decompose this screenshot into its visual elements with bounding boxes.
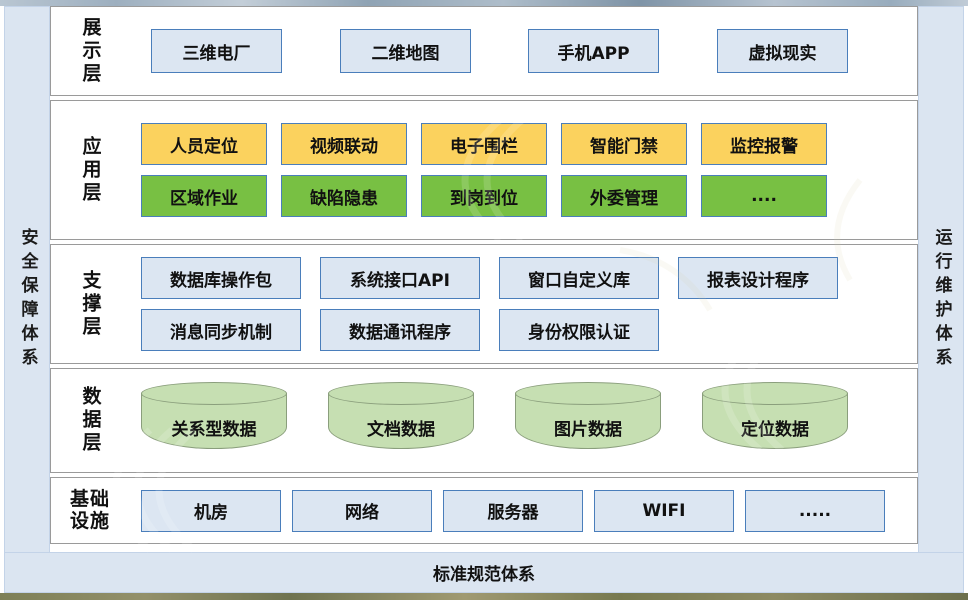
node-mobile-app[interactable]: 手机APP bbox=[528, 29, 659, 73]
layer-body-data: 关系型数据 文档数据 图片数据 bbox=[129, 369, 917, 472]
layer-body-support: 数据库操作包 系统接口API 窗口自定义库 报表设计程序 消息同步机制 数据通讯… bbox=[129, 245, 917, 363]
node-application-more[interactable]: .... bbox=[701, 175, 827, 217]
node-on-post-on-duty[interactable]: 到岗到位 bbox=[421, 175, 547, 217]
cylinder-label: 文档数据 bbox=[367, 415, 435, 440]
node-message-sync-mechanism[interactable]: 消息同步机制 bbox=[141, 309, 301, 351]
support-row-2: 消息同步机制 数据通讯程序 身份权限认证 bbox=[129, 309, 907, 351]
node-database-operation-package[interactable]: 数据库操作包 bbox=[141, 257, 301, 299]
left-rail-security-system: 安全保障体系 bbox=[4, 6, 50, 593]
layer-body-infrastructure: 机房 网络 服务器 WIFI ..... bbox=[129, 478, 917, 543]
node-monitoring-alarm[interactable]: 监控报警 bbox=[701, 123, 827, 165]
node-system-interface-api[interactable]: 系统接口API bbox=[320, 257, 480, 299]
node-machine-room[interactable]: 机房 bbox=[141, 490, 281, 532]
layer-label-infrastructure-line1: 基础 bbox=[70, 489, 110, 510]
cylinder-positioning-data[interactable]: 定位数据 bbox=[702, 382, 848, 460]
node-smart-access-control[interactable]: 智能门禁 bbox=[561, 123, 687, 165]
cylinder-top-ellipse bbox=[515, 382, 661, 405]
node-3d-plant[interactable]: 三维电厂 bbox=[151, 29, 282, 73]
cylinder-document-data[interactable]: 文档数据 bbox=[328, 382, 474, 460]
layer-body-presentation: 三维电厂 二维地图 手机APP 虚拟现实 bbox=[129, 7, 917, 95]
layer-label-presentation: 展示层 bbox=[51, 7, 129, 95]
footer-standards-system: 标准规范体系 bbox=[4, 552, 964, 593]
node-infrastructure-more[interactable]: ..... bbox=[745, 490, 885, 532]
layer-stack: 展示层 三维电厂 二维地图 手机APP 虚拟现实 应用层 bbox=[50, 6, 918, 593]
cylinder-label: 定位数据 bbox=[741, 415, 809, 440]
node-report-design-program[interactable]: 报表设计程序 bbox=[678, 257, 838, 299]
layer-presentation: 展示层 三维电厂 二维地图 手机APP 虚拟现实 bbox=[50, 6, 918, 96]
node-defect-hazard[interactable]: 缺陷隐患 bbox=[281, 175, 407, 217]
node-data-communication-program[interactable]: 数据通讯程序 bbox=[320, 309, 480, 351]
right-rail-label: 运行维护体系 bbox=[933, 228, 950, 372]
cylinder-image-data[interactable]: 图片数据 bbox=[515, 382, 661, 460]
cylinder-top-ellipse bbox=[328, 382, 474, 405]
bottom-photo-band bbox=[0, 593, 968, 600]
layer-label-infrastructure: 基础 设施 bbox=[51, 478, 129, 543]
layer-infrastructure: 基础 设施 机房 网络 服务器 WIFI ..... bbox=[50, 477, 918, 544]
cylinder-label: 图片数据 bbox=[554, 415, 622, 440]
cylinder-label: 关系型数据 bbox=[172, 415, 257, 440]
application-row-yellow: 人员定位 视频联动 电子围栏 智能门禁 监控报警 bbox=[129, 123, 907, 165]
node-identity-permission-auth[interactable]: 身份权限认证 bbox=[499, 309, 659, 351]
node-server[interactable]: 服务器 bbox=[443, 490, 583, 532]
architecture-diagram: 安全保障体系 运行维护体系 展示层 三维电厂 二维地图 手机APP 虚拟现实 bbox=[0, 0, 968, 600]
layer-support: 支撑层 数据库操作包 系统接口API 窗口自定义库 报表设计程序 消息同步机制 … bbox=[50, 244, 918, 364]
node-video-linkage[interactable]: 视频联动 bbox=[281, 123, 407, 165]
cylinder-top-ellipse bbox=[141, 382, 287, 405]
cylinder-top-ellipse bbox=[702, 382, 848, 405]
node-outsourcing-management[interactable]: 外委管理 bbox=[561, 175, 687, 217]
node-electronic-fence[interactable]: 电子围栏 bbox=[421, 123, 547, 165]
cylinder-relational-data[interactable]: 关系型数据 bbox=[141, 382, 287, 460]
layer-data: 数据层 关系型数据 文档数据 bbox=[50, 368, 918, 473]
node-wifi[interactable]: WIFI bbox=[594, 490, 734, 532]
support-row-1: 数据库操作包 系统接口API 窗口自定义库 报表设计程序 bbox=[129, 257, 907, 299]
layer-label-infrastructure-line2: 设施 bbox=[70, 511, 110, 532]
node-network[interactable]: 网络 bbox=[292, 490, 432, 532]
layer-label-data: 数据层 bbox=[51, 369, 129, 472]
right-rail-operations-system: 运行维护体系 bbox=[918, 6, 964, 593]
presentation-row: 三维电厂 二维地图 手机APP 虚拟现实 bbox=[129, 29, 907, 73]
left-rail-label: 安全保障体系 bbox=[19, 228, 36, 372]
node-zone-operations[interactable]: 区域作业 bbox=[141, 175, 267, 217]
node-2d-map[interactable]: 二维地图 bbox=[340, 29, 471, 73]
layer-label-support: 支撑层 bbox=[51, 245, 129, 363]
layer-application: 应用层 人员定位 视频联动 电子围栏 智能门禁 监控报警 区域作业 bbox=[50, 100, 918, 240]
node-window-custom-library[interactable]: 窗口自定义库 bbox=[499, 257, 659, 299]
infrastructure-row: 机房 网络 服务器 WIFI ..... bbox=[129, 490, 907, 532]
layer-label-application: 应用层 bbox=[51, 101, 129, 239]
data-row: 关系型数据 文档数据 图片数据 bbox=[129, 382, 907, 460]
node-virtual-reality[interactable]: 虚拟现实 bbox=[717, 29, 848, 73]
application-row-green: 区域作业 缺陷隐患 到岗到位 外委管理 .... bbox=[129, 175, 907, 217]
layer-body-application: 人员定位 视频联动 电子围栏 智能门禁 监控报警 区域作业 缺陷隐患 到岗到位 bbox=[129, 101, 917, 239]
node-personnel-positioning[interactable]: 人员定位 bbox=[141, 123, 267, 165]
